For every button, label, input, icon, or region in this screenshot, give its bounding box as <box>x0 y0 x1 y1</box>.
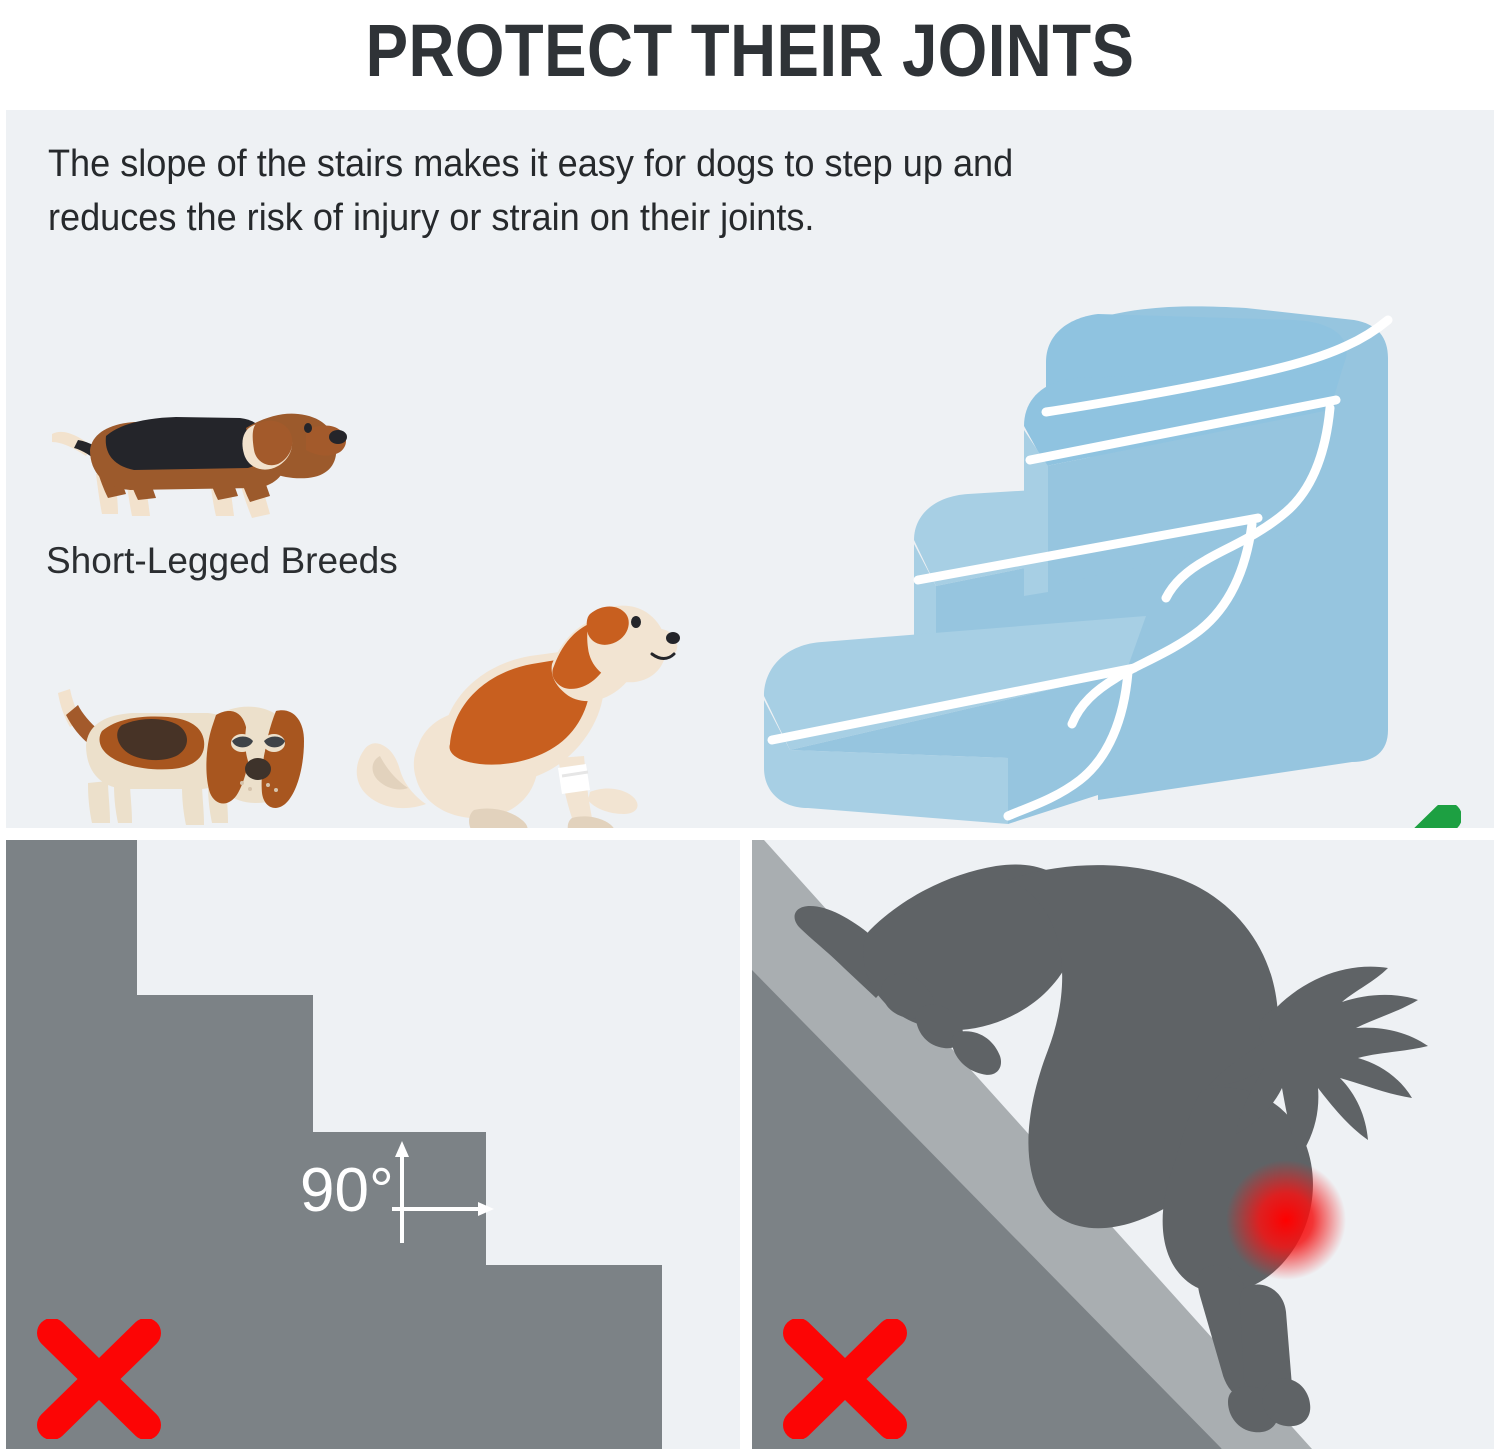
red-joint-pain-glow <box>1226 1160 1346 1280</box>
benefits-panel: The slope of the stairs makes it easy fo… <box>6 110 1494 828</box>
senior-dog-icon <box>36 665 326 828</box>
injured-dog-icon <box>346 580 686 828</box>
angle-annotation-label: 90° <box>300 1160 394 1222</box>
dog-label-short-legged: Short-Legged Breeds <box>46 540 398 582</box>
intro-line-2: reduces the risk of injury or strain on … <box>48 192 1055 246</box>
short-legged-breed-dog-icon <box>34 380 364 530</box>
red-x-icon-left <box>34 1319 164 1439</box>
page-header: PROTECT THEIR JOINTS <box>0 0 1500 100</box>
steep-stairs-panel <box>6 840 740 1449</box>
right-angle-arrows-icon <box>390 1135 500 1255</box>
intro-line-1: The slope of the stairs makes it easy fo… <box>48 138 1055 192</box>
red-x-icon-right <box>780 1319 910 1439</box>
warning-panels-row <box>6 840 1494 1449</box>
blue-pet-stairs-icon <box>746 300 1436 828</box>
page-title: PROTECT THEIR JOINTS <box>366 8 1135 93</box>
green-check-icon <box>1301 805 1461 828</box>
intro-description: The slope of the stairs makes it easy fo… <box>48 138 1055 246</box>
jumping-down-ramp-panel <box>752 840 1494 1449</box>
